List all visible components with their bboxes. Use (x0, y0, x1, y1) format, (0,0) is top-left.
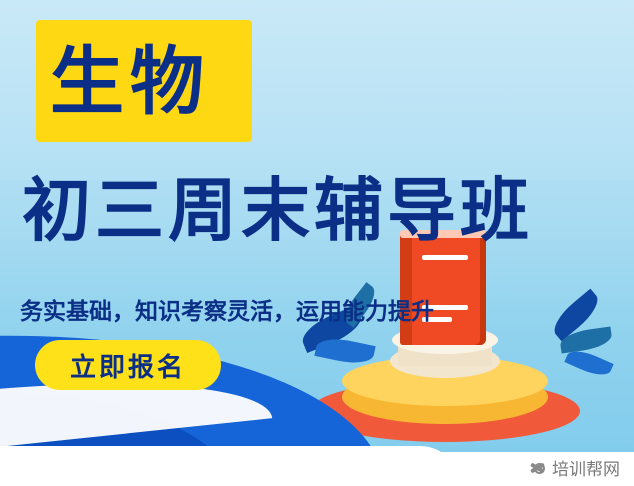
watermark: 培训帮网 (528, 455, 620, 480)
watermark-label: 培训帮网 (552, 455, 620, 480)
crossed-ribbon-icon (528, 458, 547, 477)
promo-banner: 生物 初三周末辅导班 务实基础，知识考察灵活，运用能力提升 立即报名 培训帮网 (0, 0, 634, 486)
bottom-strip-curve (0, 446, 460, 486)
subject-tag-label: 生物 (50, 30, 240, 134)
book-line-1 (422, 255, 468, 260)
subtitle: 务实基础，知识考察灵活，运用能力提升 (20, 292, 434, 326)
enroll-button[interactable]: 立即报名 (35, 340, 221, 390)
page-title: 初三周末辅导班 (22, 170, 616, 252)
